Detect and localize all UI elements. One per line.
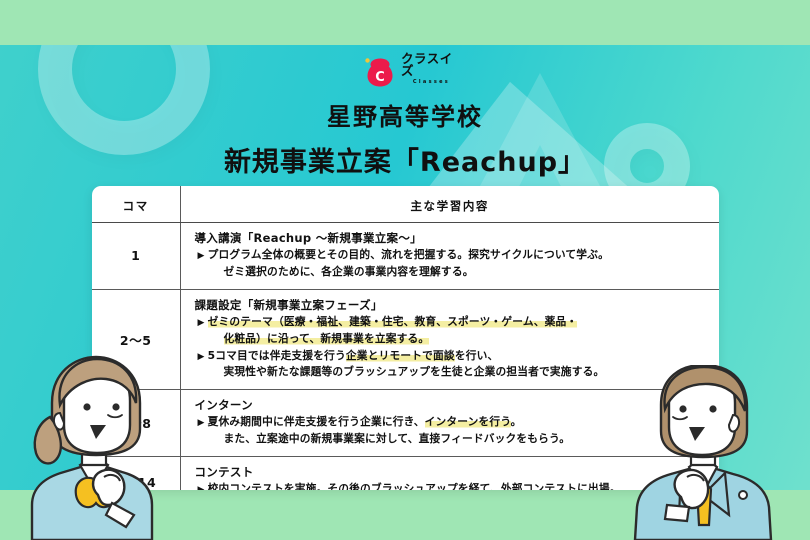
row-content-title: 課題設定「新規事業立案フェーズ」: [195, 297, 712, 314]
bullet-text: 夏休み期間中に伴走支援を行う企業に行き、: [208, 415, 425, 428]
background-band-top: [0, 0, 810, 45]
highlighted-text: 化粧品）に沿って、新規事業を立案する。: [224, 332, 430, 345]
bullet-text: また、立案途中の新規事業案に対して、直接フィードバックをもらう。: [224, 432, 571, 445]
highlighted-text: ゼミのテーマ（医療・福祉、建築・住宅、教育、スポーツ・ゲーム、薬品・: [208, 315, 578, 328]
brand-logo: C クラスイズ Classes: [364, 50, 462, 88]
student-illustration-male: [609, 365, 810, 540]
bullet-text: 校内コンテストを実施。その後のブラッシュアップを経て、外部コンテストに出場。: [208, 482, 621, 490]
table-header-row: コマ 主な学習内容: [92, 186, 719, 223]
row-content-cell: 導入講演「Reachup ～新規事業立案～」▶プログラム全体の概要とその目的、流…: [180, 223, 719, 290]
row-koma-cell: 1: [92, 223, 180, 290]
bullet-item: ▶プログラム全体の概要とその目的、流れを把握する。探究サイクルについて学ぶ。: [195, 247, 712, 264]
bullet-text: ゼミ選択のために、各企業の事業内容を理解する。: [224, 265, 474, 278]
student-illustration-female: [0, 355, 204, 540]
logo-wordmark: クラスイズ Classes: [401, 53, 462, 86]
program-title: 新規事業立案「Reachup」: [0, 140, 810, 179]
logo-japanese-name: クラスイズ: [401, 53, 462, 78]
bullet-text: を行い、: [455, 349, 499, 362]
school-name-title: 星野高等学校: [0, 97, 810, 132]
svg-text:C: C: [375, 70, 385, 85]
row-content-title: 導入講演「Reachup ～新規事業立案～」: [195, 230, 712, 247]
column-header-koma: コマ: [92, 186, 180, 223]
bullet-continuation: ゼミ選択のために、各企業の事業内容を理解する。: [195, 264, 712, 281]
column-header-content: 主な学習内容: [180, 186, 719, 223]
logo-english-name: Classes: [413, 80, 450, 85]
bullet-triangle-icon: ▶: [198, 317, 205, 331]
highlighted-text: 企業とリモートで面談: [346, 349, 455, 362]
table-row: 1導入講演「Reachup ～新規事業立案～」▶プログラム全体の概要とその目的、…: [92, 223, 719, 290]
bullet-item: ▶5コマ目では伴走支援を行う企業とリモートで面談を行い、: [195, 348, 712, 365]
bullet-triangle-icon: ▶: [198, 250, 205, 264]
bullet-item: ▶ゼミのテーマ（医療・福祉、建築・住宅、教育、スポーツ・ゲーム、薬品・: [195, 314, 712, 331]
bullet-text: プログラム全体の概要とその目的、流れを把握する。探究サイクルについて学ぶ。: [208, 248, 609, 261]
slide-canvas: C クラスイズ Classes 星野高等学校 新規事業立案「Reachup」 コ…: [0, 0, 810, 540]
bullet-text: 実現性や新たな課題等のブラッシュアップを生徒と企業の担当者で実施する。: [224, 365, 605, 378]
bullet-continuation: 化粧品）に沿って、新規事業を立案する。: [195, 331, 712, 348]
bullet-text: 。: [511, 415, 522, 428]
logo-bag-icon: C: [364, 51, 396, 87]
bullet-text: 5コマ目では伴走支援を行う: [208, 349, 346, 362]
highlighted-text: インターンを行う: [425, 415, 511, 428]
